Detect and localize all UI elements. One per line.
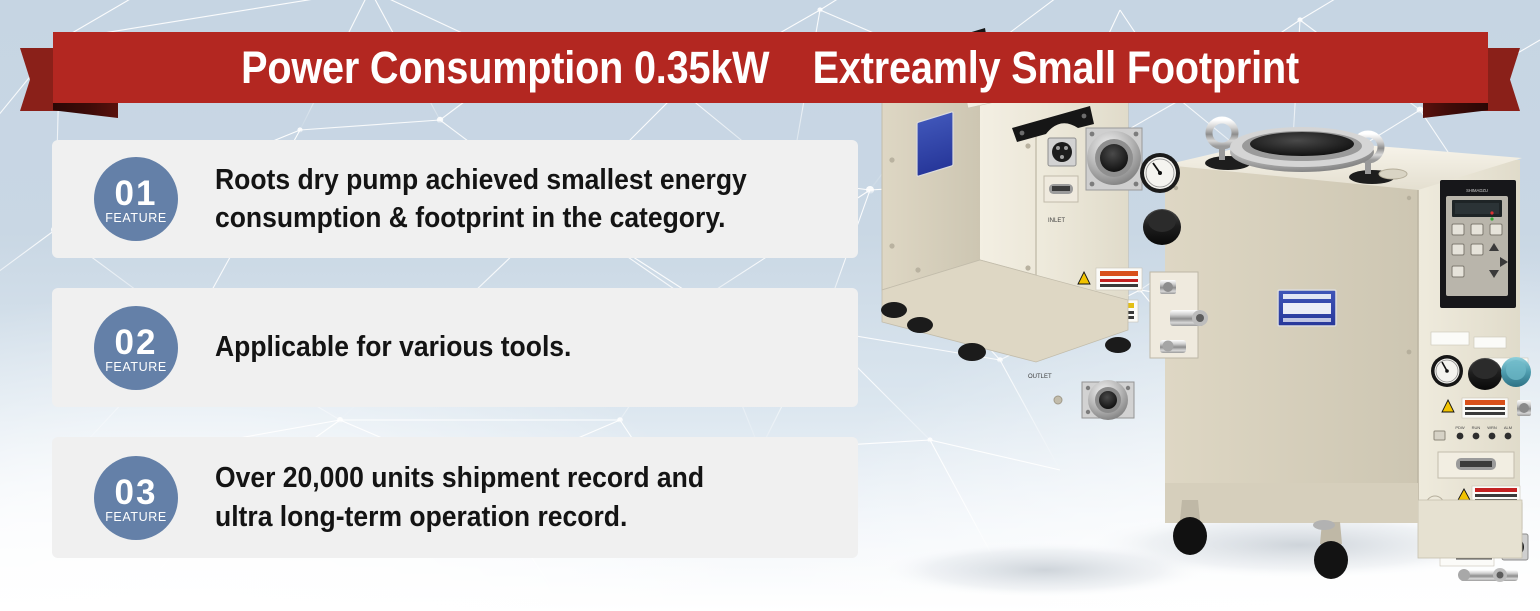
promo-banner-page: Power Consumption 0.35kW Extreamly Small… [0,0,1540,611]
inlet-label: INLET [1048,218,1065,224]
svg-text:SHIMADZU: SHIMADZU [1466,188,1488,193]
purge-valve-knob [1501,357,1531,387]
rubber-foot-front [1105,337,1131,353]
svg-text:WRN: WRN [1487,425,1497,430]
feature-number: 01 [115,177,158,210]
feature-badge-01: 01 FEATURE [94,157,178,241]
panel-button [1471,244,1483,255]
rubber-foot-mid [907,317,933,333]
dsub-connector-plate [1438,452,1514,478]
feature-card-02: 02 FEATURE Applicable for various tools. [52,288,858,407]
body-screw [889,157,894,162]
large-pump-inlet-flange [1230,127,1374,172]
small-pump-knob [1143,209,1181,245]
panel-screw [1407,196,1411,200]
panel-button [1471,224,1483,235]
feature-text-02: Applicable for various tools. [215,328,571,366]
feature-text-01: Roots dry pump achieved smallest energy … [215,161,747,237]
svg-text:ALM: ALM [1504,425,1512,430]
label-white-small [1431,332,1469,345]
body-screw [915,267,920,272]
outlet-screw [1054,396,1062,404]
outlet-label: OUTLET [1028,374,1052,380]
top-port-small [1379,169,1407,179]
svg-text:PDW: PDW [1455,425,1465,430]
small-pump-inlet-port [1086,128,1142,190]
panel-button [1490,224,1502,235]
feature-number: 03 [115,476,158,509]
banner-headline: Power Consumption 0.35kW Extreamly Small… [242,45,1300,90]
feature-label: FEATURE [105,511,167,524]
svg-text:RUN: RUN [1472,425,1481,430]
panel-button [1452,266,1464,277]
feature-badge-02: 02 FEATURE [94,306,178,390]
led-alm [1505,433,1512,440]
body-screw [889,243,894,248]
large-pump-base-skirt [1418,500,1522,558]
regulator-knob [1468,358,1502,390]
water-fittings [1458,568,1518,582]
large-pump-nameplate [1278,290,1336,326]
feature-card-03: 03 FEATURE Over 20,000 units shipment re… [52,437,858,558]
feature-label: FEATURE [105,361,167,374]
feature-text-03: Over 20,000 units shipment record and ul… [215,459,704,535]
feature-card-01: 01 FEATURE Roots dry pump achieved small… [52,140,858,258]
large-pump-base-skirt-side [1165,483,1418,523]
status-led [1490,217,1493,220]
ribbon-bar: Power Consumption 0.35kW Extreamly Small… [53,32,1488,103]
panel-button [1452,244,1464,255]
control-panel: SHIMADZU [1440,180,1516,308]
small-pump-gauge [1140,153,1180,193]
ribbon-banner: Power Consumption 0.35kW Extreamly Small… [0,26,1540,110]
panel-screw [1407,350,1412,355]
feature-badge-03: 03 FEATURE [94,456,178,540]
panel-button [1452,224,1464,235]
small-pump-nameplate [917,112,953,177]
rubber-foot-left [881,302,907,318]
pressure-gauge [1431,355,1463,387]
small-pump-shadow [880,542,1210,598]
circular-connector [1048,138,1076,166]
led-pdw [1457,433,1464,440]
small-pump-outlet-port [1082,380,1134,420]
dsub-connector [1044,176,1078,202]
lan-port [1434,431,1445,440]
body-screw [1025,265,1030,270]
status-led [1490,211,1493,214]
feature-label: FEATURE [105,212,167,225]
rubber-foot-right [958,343,986,361]
feature-number: 02 [115,326,158,359]
led-run [1473,433,1480,440]
led-wrn [1489,433,1496,440]
label-white-small [1474,337,1506,348]
hose-fitting-right [1517,400,1531,416]
body-screw [1025,143,1030,148]
large-pump: SHIMADZU [1165,120,1531,582]
